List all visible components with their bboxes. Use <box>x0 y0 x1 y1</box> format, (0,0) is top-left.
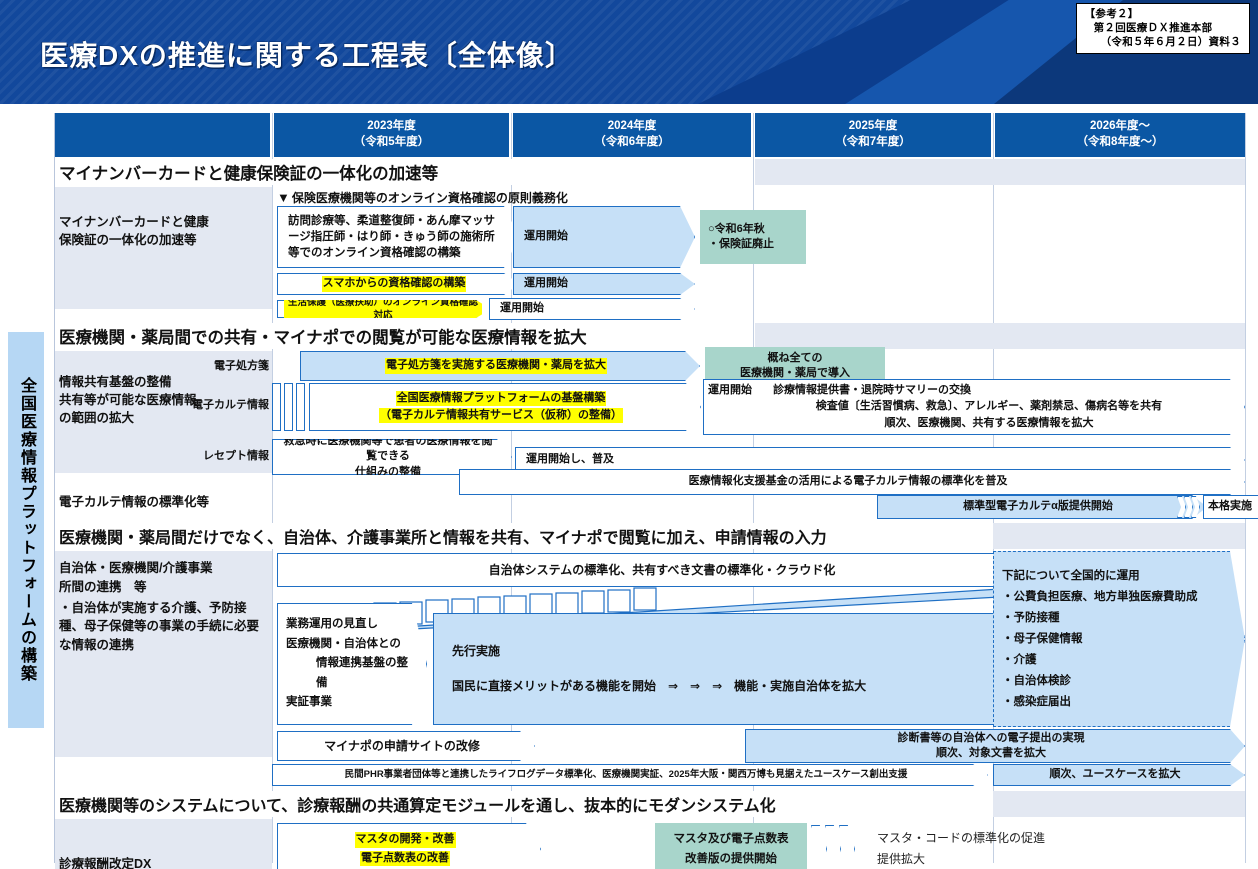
section-3-row-label-l2: 所間の連携 等 <box>59 578 268 597</box>
col-divider-end <box>1245 113 1246 863</box>
section-4-master-l1: マスタの開発・改善 <box>355 832 456 847</box>
section-3-phr-arrow: 民間PHR事業者団体等と連携したライフログデータ標準化、医療機関実証、2025年… <box>272 764 988 786</box>
section-4-band: 医療機関等のシステムについて、診療報酬の共通算定モジュールを通し、抜本的にモダン… <box>55 791 993 817</box>
section-3-nationwide-item-4: ・自治体検診 <box>1002 673 1071 689</box>
section-4-master-plain: マスタ・コードの標準化の促進 提供拡大 <box>867 823 1107 869</box>
section-3-cert-l2: 順次、対象文書を拡大 <box>936 746 1046 761</box>
ehr-bar-3 <box>296 383 305 431</box>
section-3-review-arrow: 業務運用の見直し 医療機関・自治体との 情報連携基盤の整備 実証事業 <box>277 603 427 725</box>
section-1-band-shade <box>993 159 1245 185</box>
header-year-2025: 2025年度 <box>849 119 898 135</box>
section-2-band-shade-b <box>755 323 993 349</box>
tag-receipt: レセプト情報 <box>165 447 269 463</box>
section-2-ehr-opstart: 運用開始 <box>708 383 770 398</box>
reference-box: 【参考２】 第２回医療ＤＸ推進本部 （令和５年６月２日）資料３ <box>1076 3 1250 54</box>
section-2-platform-line2: （電子カルテ情報共有サービス（仮称）の整備） <box>379 408 623 423</box>
roadmap-grid: 2023年度 （令和5年度） 2024年度 （令和6年度） 2025年度 （令和… <box>54 113 1245 863</box>
section-1-obligation-note: ▼ 保険医療機関等のオンライン資格確認の原則義務化 <box>277 189 568 206</box>
section-3-review-l4: 実証事業 <box>286 693 332 713</box>
side-vertical-label: 全国医療情報プラットフォームの構築 <box>8 332 44 728</box>
page-banner: 医療DXの推進に関する工程表〔全体像〕 【参考２】 第２回医療ＤＸ推進本部 （令… <box>0 0 1258 104</box>
section-3-review-l1: 業務運用の見直し <box>286 615 378 635</box>
section-2-fund-arrow: 医療情報化支援基金の活用による電子カルテ情報の標準化を普及 <box>459 469 1245 495</box>
section-1-op-start-2-arrow: 運用開始 <box>513 273 695 295</box>
section-4-row-label: 診療報酬改定DX 〔医療機関等システムのモダンシステム化〕 <box>55 851 272 869</box>
section-3-usecase-arrow: 順次、ユースケースを拡大 <box>993 764 1245 786</box>
section-1-row-label: マイナンバーカードと健康 保険証の一体化の加速等 <box>55 209 272 269</box>
section-4-master-green-l2: 改善版の提供開始 <box>685 851 777 867</box>
tag-ehr: 電子カルテ情報 <box>165 396 269 412</box>
section-1-visit-care-arrow: 訪問診療等、柔道整復師・あん摩マッサージ指圧師・はり師・きゅう師の施術所等でのオ… <box>277 206 519 268</box>
header-era-2025: （令和7年度） <box>835 135 910 151</box>
section-3-nationwide-arrow: 下記について全国的に運用 ・公費負担医療、地方単独医療費助成 ・予防接種 ・母子… <box>993 551 1245 727</box>
side-vertical-label-text: 全国医療情報プラットフォームの構築 <box>14 377 38 683</box>
section-2-emergency-line1: 救急時に医療機関等で患者の医療情報を閲覧できる <box>279 434 497 465</box>
header-cell-2024: 2024年度 （令和6年度） <box>513 113 753 157</box>
section-3-row-label-l1: 自治体・医療機関/介護事業 <box>59 559 268 578</box>
section-3-nationwide-item-5: ・感染症届出 <box>1002 694 1071 710</box>
section-2-eprescription-text: 電子処方箋を実施する医療機関・薬局を拡大 <box>385 358 607 373</box>
section-3-pilot-body: 国民に直接メリットがある機能を開始 ⇒ ⇒ ⇒ 機能・実施自治体を拡大 <box>452 678 866 695</box>
section-1-welfare-arrow: 生活保護（医療扶助）のオンライン資格確認対応 <box>277 300 491 318</box>
section-2-row-label-2: 電子カルテ情報の標準化等 <box>55 489 272 515</box>
section-1-obligation-text: 保険医療機関等のオンライン資格確認の原則義務化 <box>292 189 568 206</box>
section-2-full-impl-arrow: 本格実施 <box>1203 495 1258 519</box>
section-1-welfare-text: 生活保護（医療扶助）のオンライン資格確認対応 <box>284 296 482 323</box>
section-3-standardize-arrow: 自治体システムの標準化、共有すべき文書の標準化・クラウド化 <box>277 553 1055 587</box>
header-era-2026: （令和8年度～） <box>1077 135 1164 151</box>
section-1-abolish-note: ○令和6年秋 ・保険証廃止 <box>700 210 806 264</box>
col-divider-0 <box>272 113 273 863</box>
section-2-platform-line1: 全国医療情報プラットフォームの基盤構築 <box>396 391 607 406</box>
section-2-band-shade <box>993 323 1245 349</box>
ehr-bar-2 <box>284 383 293 431</box>
ehr-bar-1 <box>272 383 281 431</box>
section-4-chevron-triple-icon <box>811 825 853 869</box>
header-year-2026: 2026年度～ <box>1090 119 1150 135</box>
section-2-ehr-line3: 順次、医療機関、共有する医療情報を拡大 <box>708 416 1230 431</box>
section-3-pilot-arrow: 先行実施 国民に直接メリットがある機能を開始 ⇒ ⇒ ⇒ 機能・実施自治体を拡大 <box>433 613 1055 725</box>
section-2-ehr-line1: 診療情報提供書・退院時サマリーの交換 <box>773 384 971 396</box>
section-4-master-green-l1: マスタ及び電子点数表 <box>674 831 789 847</box>
header-cell-2023: 2023年度 （令和5年度） <box>274 113 511 157</box>
header-era-2023: （令和5年度） <box>354 135 429 151</box>
section-3-cert-l1: 診断書等の自治体への電子提出の実現 <box>898 731 1085 746</box>
section-1-op-start-1-arrow: 運用開始 <box>513 206 695 268</box>
header-year-2024: 2024年度 <box>608 119 657 135</box>
section-1-op-start-3-arrow: 運用開始 <box>489 298 695 320</box>
section-3-nationwide-item-0: ・公費負担医療、地方単独医療費助成 <box>1002 589 1198 605</box>
section-2-platform-arrow: 全国医療情報プラットフォームの基盤構築 （電子カルテ情報共有サービス（仮称）の整… <box>309 383 701 431</box>
section-4-master-plain-l2: 提供拡大 <box>877 851 925 868</box>
section-3-row-label: 自治体・医療機関/介護事業 所間の連携 等 ・自治体が実施する介護、予防接種、母… <box>55 555 272 755</box>
page-title: 医療DXの推進に関する工程表〔全体像〕 <box>40 34 574 74</box>
section-4-master-plain-l1: マスタ・コードの標準化の促進 <box>877 830 1045 847</box>
section-1-smartphone-text: スマホからの資格確認の構築 <box>322 276 467 291</box>
section-2-ehr-line2: 検査値〔生活習慣病、救急〕、アレルギー、薬剤禁忌、傷病名等を共有 <box>708 399 1230 414</box>
section-1-smartphone-arrow: スマホからの資格確認の構築 <box>277 273 519 295</box>
reference-line-3: （令和５年６月２日）資料３ <box>1085 35 1241 49</box>
header-cell-blank <box>55 113 272 157</box>
section-2-emergency-line2: 仕組みの整備 <box>355 465 421 480</box>
header-era-2024: （令和6年度） <box>594 135 669 151</box>
reference-line-1: 【参考２】 <box>1085 7 1241 21</box>
section-3-band-shade <box>993 523 1245 549</box>
section-2-eprescription-arrow: 電子処方箋を実施する医療機関・薬局を拡大 <box>300 351 700 381</box>
section-1-band-shade-b <box>755 159 993 185</box>
section-2-standard-ehr-arrow: 標準型電子カルテα版提供開始 <box>877 495 1207 519</box>
section-3-cert-arrow: 診断書等の自治体への電子提出の実現 順次、対象文書を拡大 <box>745 729 1245 763</box>
section-3-review-l3: 情報連携基盤の整備 <box>286 654 412 693</box>
chevron-right-icon-a <box>811 825 827 869</box>
section-3-mynapo-arrow: マイナポの申請サイトの改修 <box>277 731 535 761</box>
chevron-right-icon-b <box>825 825 841 869</box>
header-cell-2025: 2025年度 （令和7年度） <box>755 113 993 157</box>
chevron-right-icon-c <box>839 825 855 869</box>
section-4-master-arrow: マスタの開発・改善 電子点数表の改善 <box>277 823 541 869</box>
section-3-nationwide-title: 下記について全国的に運用 <box>1002 568 1140 584</box>
section-2-ehr-exchange-arrow: 運用開始 診療情報提供書・退院時サマリーの交換 検査値〔生活習慣病、救急〕、アレ… <box>703 379 1245 435</box>
section-3-pilot-title: 先行実施 <box>452 643 500 660</box>
section-3-nationwide-item-1: ・予防接種 <box>1002 610 1060 626</box>
header-year-2023: 2023年度 <box>367 119 416 135</box>
section-2-band: 医療機関・薬局間での共有・マイナポでの閲覧が可能な医療情報を拡大 <box>55 323 753 349</box>
section-4-band-shade <box>993 791 1245 817</box>
section-4-master-green: マスタ及び電子点数表 改善版の提供開始 <box>655 823 807 869</box>
section-3-band: 医療機関・薬局間だけでなく、自治体、介護事業所と情報を共有、マイナポで閲覧に加え… <box>55 523 993 549</box>
chevron-triple-icon <box>1177 496 1198 518</box>
reference-line-2: 第２回医療ＤＸ推進本部 <box>1085 21 1241 35</box>
section-3-nationwide-item-2: ・母子保健情報 <box>1002 631 1083 647</box>
table-header: 2023年度 （令和5年度） 2024年度 （令和6年度） 2025年度 （令和… <box>55 113 1246 157</box>
section-3-nationwide-item-3: ・介護 <box>1002 652 1037 668</box>
section-4-master-l2: 電子点数表の改善 <box>360 851 450 866</box>
section-3-row-label-l3: ・自治体が実施する介護、予防接種、母子保健等の事業の手続に必要な情報の連携 <box>59 599 268 655</box>
section-4-row-label-l1: 診療報酬改定DX <box>59 855 268 869</box>
section-1-band: マイナンバーカードと健康保険証の一体化の加速等 <box>55 159 753 185</box>
section-3-review-l2: 医療機関・自治体との <box>286 635 401 655</box>
triangle-down-icon: ▼ <box>277 191 290 204</box>
header-cell-2026: 2026年度～ （令和8年度～） <box>995 113 1245 157</box>
tag-eprescription: 電子処方箋 <box>173 357 269 373</box>
chevron-right-icon-1 <box>1177 496 1186 518</box>
